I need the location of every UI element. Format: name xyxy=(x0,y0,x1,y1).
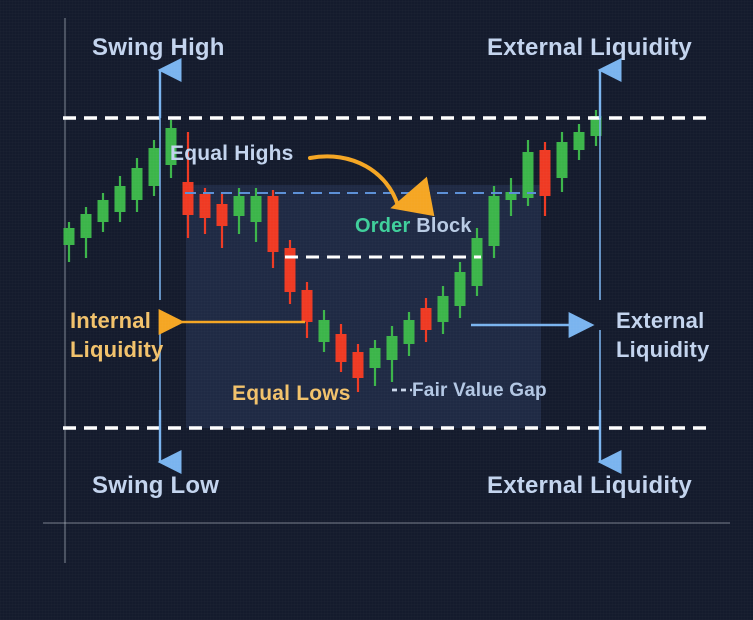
label-equal-highs: Equal Highs xyxy=(170,142,294,166)
label-fair-value-gap: Fair Value Gap xyxy=(412,380,547,402)
candle xyxy=(523,140,534,206)
label-internal-liquidity-line1: Internal xyxy=(70,306,163,335)
label-internal-liquidity-line2: Liquidity xyxy=(70,335,163,364)
candle xyxy=(574,124,585,160)
label-external-liquidity-top: External Liquidity xyxy=(487,34,692,62)
label-swing-high: Swing High xyxy=(92,34,225,62)
candle xyxy=(98,193,109,232)
label-external-liquidity-right-line2: Liquidity xyxy=(616,335,709,364)
candle xyxy=(149,140,160,196)
label-external-liquidity-right: External Liquidity xyxy=(616,306,709,364)
diagram-canvas: Swing High External Liquidity Swing Low … xyxy=(0,0,753,620)
label-order-block-word1: Order xyxy=(355,215,410,237)
label-internal-liquidity: Internal Liquidity xyxy=(70,306,163,364)
label-order-block: Order Block xyxy=(355,215,472,238)
label-swing-low: Swing Low xyxy=(92,472,219,500)
candle xyxy=(540,142,551,216)
candle xyxy=(557,132,568,192)
candle xyxy=(132,158,143,212)
label-external-liquidity-right-line1: External xyxy=(616,306,709,335)
candle xyxy=(115,176,126,222)
label-external-liquidity-bottom: External Liquidity xyxy=(487,472,692,500)
candle xyxy=(472,228,483,296)
candle xyxy=(81,207,92,258)
label-order-block-word2: Block xyxy=(416,215,471,237)
label-equal-lows: Equal Lows xyxy=(232,382,351,406)
